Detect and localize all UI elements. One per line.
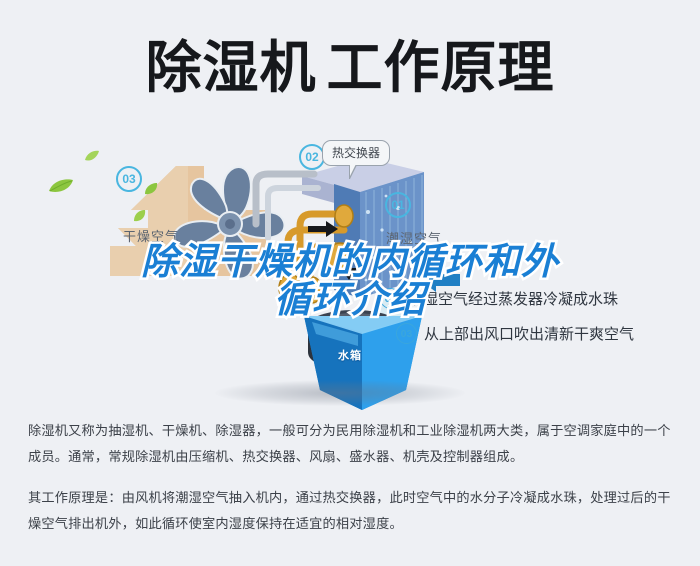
page-title-text: 除湿机工作原理 <box>146 40 555 96</box>
leaf-icon-1 <box>48 178 74 194</box>
page-title-segment-2: 工作原理 <box>327 36 555 99</box>
dehumidifier-diagram: 水箱 03 02 01 热交换器 干燥空气 潮湿空气 <box>0 118 700 410</box>
page-title-segment-1: 除湿机 <box>146 36 317 99</box>
body-paragraph-2: 其工作原理是：由风机将潮湿空气抽入机内，通过热交换器，此时空气中的水分子冷凝成水… <box>28 485 676 538</box>
moist-air-label: 潮湿空气 <box>386 228 442 247</box>
heat-exchanger-callout: 热交换器 <box>322 140 390 166</box>
step-item-02: 02 潮湿空气经过蒸发器冷凝成水珠 <box>380 288 680 309</box>
body-paragraph-1: 除湿机又称为抽湿机、干燥机、除湿器，一般可分为民用除湿机和工业除湿机两大类，属于… <box>28 418 676 471</box>
step-number-02: 02 <box>380 288 401 309</box>
leaf-icon-4 <box>133 210 147 222</box>
process-steps-list: 02 潮湿空气经过蒸发器冷凝成水珠 03 从上部出风口吹出清新干爽空气 <box>396 288 696 358</box>
badge-03-left: 03 <box>116 166 142 192</box>
unit-shadow <box>215 380 465 406</box>
badge-01: 01 <box>385 192 411 218</box>
step-text-03: 从上部出风口吹出清新干爽空气 <box>424 323 634 344</box>
step-item-03: 03 从上部出风口吹出清新干爽空气 <box>396 323 696 344</box>
page-root: 除湿机工作原理 <box>0 0 700 566</box>
dry-air-label: 干燥空气 <box>123 226 179 245</box>
water-tank-label: 水箱 <box>338 347 362 363</box>
article-body: 除湿机又称为抽湿机、干燥机、除湿器，一般可分为民用除湿机和工业除湿机两大类，属于… <box>28 418 676 538</box>
page-title: 除湿机工作原理 <box>0 30 700 105</box>
leaf-icon-2 <box>84 150 100 162</box>
step-text-02: 潮湿空气经过蒸发器冷凝成水珠 <box>408 288 618 309</box>
step-number-03: 03 <box>396 323 417 344</box>
leaf-icon-3 <box>143 182 159 195</box>
